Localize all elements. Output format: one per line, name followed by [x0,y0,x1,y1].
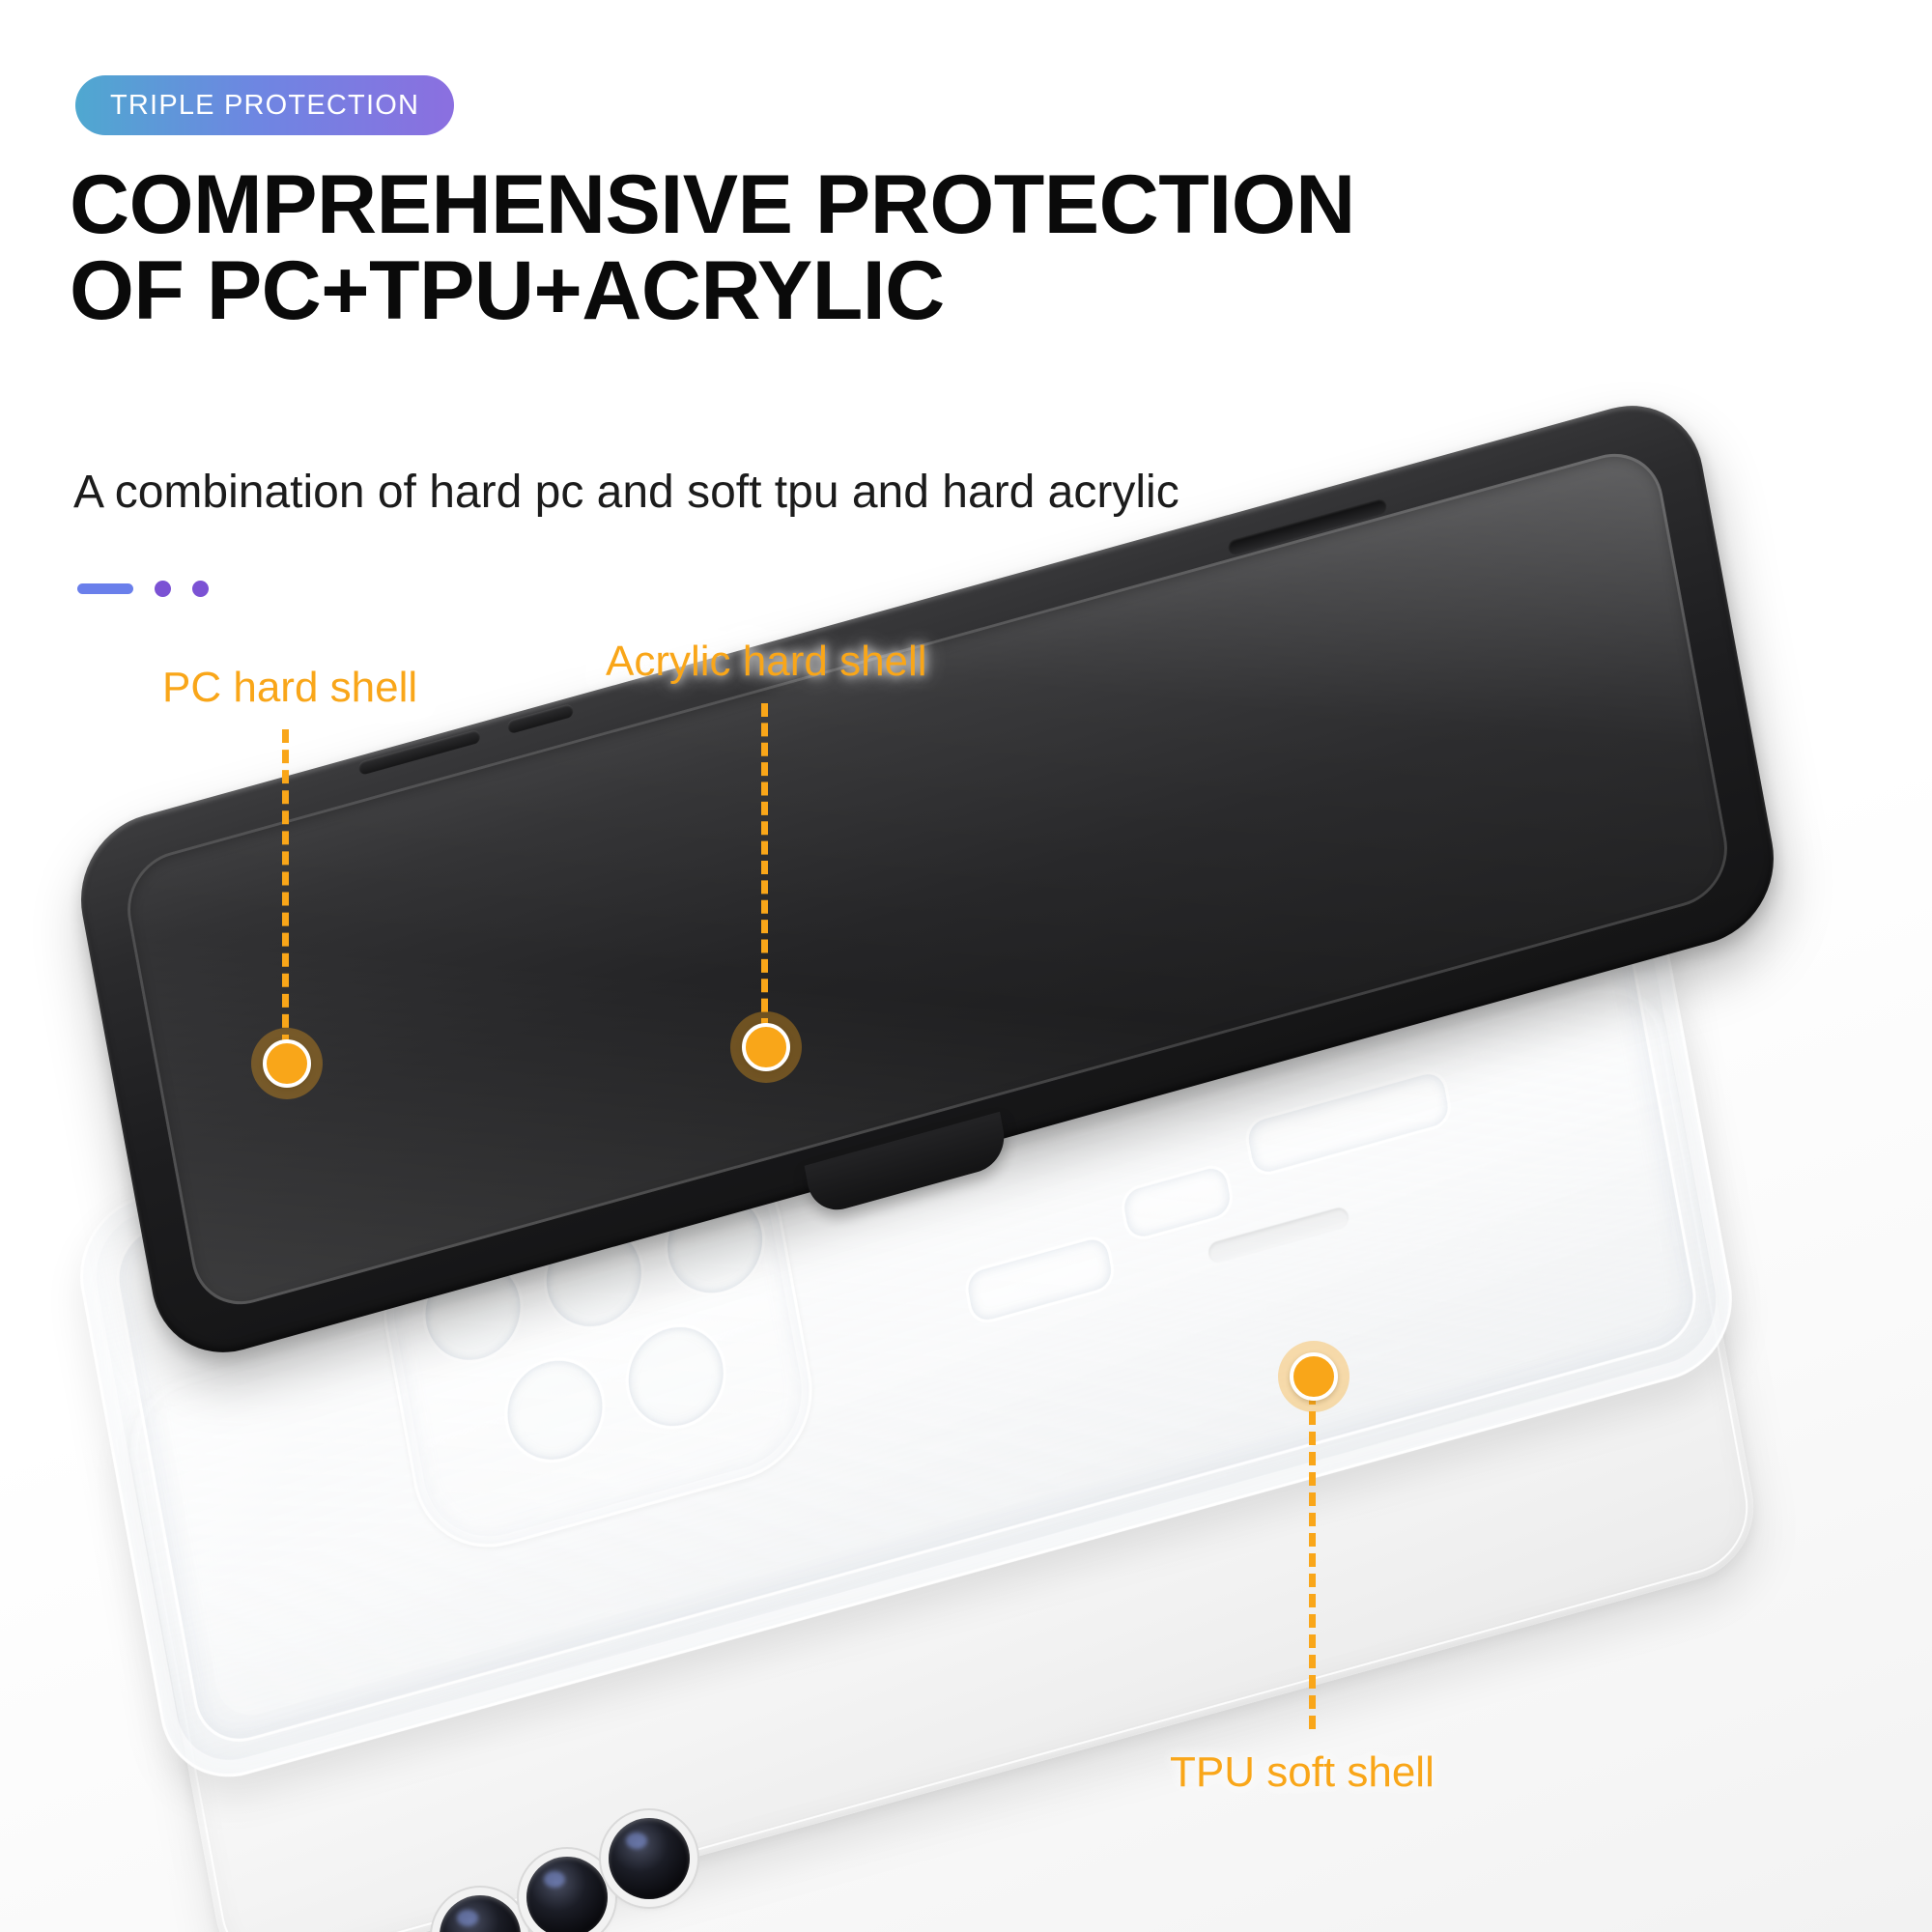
frame-side-button-2 [506,703,574,735]
product-illustration [0,580,1932,1932]
button-cutout-1 [962,1232,1118,1327]
frame-side-button-1 [357,728,481,776]
callout-marker-tpu-soft-shell [1290,1352,1338,1401]
callout-label-acrylic-hard-shell: Acrylic hard shell [606,638,927,686]
callout-line-pc-hard-shell [282,729,289,1048]
headline-line-1: COMPREHENSIVE PROTECTION [70,162,1770,248]
camera-lens-2 [526,1857,608,1932]
callout-marker-acrylic-hard-shell [742,1023,790,1071]
triple-protection-badge: TRIPLE PROTECTION [75,75,454,135]
callout-line-acrylic-hard-shell [761,703,768,1032]
infographic-page: TRIPLE PROTECTION COMPREHENSIVE PROTECTI… [0,0,1932,1932]
callout-label-pc-hard-shell: PC hard shell [162,664,417,712]
camera-hole-5 [617,1313,735,1441]
camera-lens-3 [609,1818,690,1899]
callout-marker-pc-hard-shell [263,1039,311,1088]
badge-label: TRIPLE PROTECTION [110,90,419,122]
button-cutout-2 [1119,1161,1236,1244]
headline-line-2: OF PC+TPU+ACRYLIC [70,248,1770,334]
callout-line-tpu-soft-shell [1309,1391,1316,1729]
page-subtitle: A combination of hard pc and soft tpu an… [73,466,1179,519]
button-cutout-3 [1242,1066,1454,1179]
callout-label-tpu-soft-shell: TPU soft shell [1170,1748,1435,1797]
camera-hole-4 [497,1346,614,1474]
page-title: COMPREHENSIVE PROTECTION OF PC+TPU+ACRYL… [70,162,1770,333]
